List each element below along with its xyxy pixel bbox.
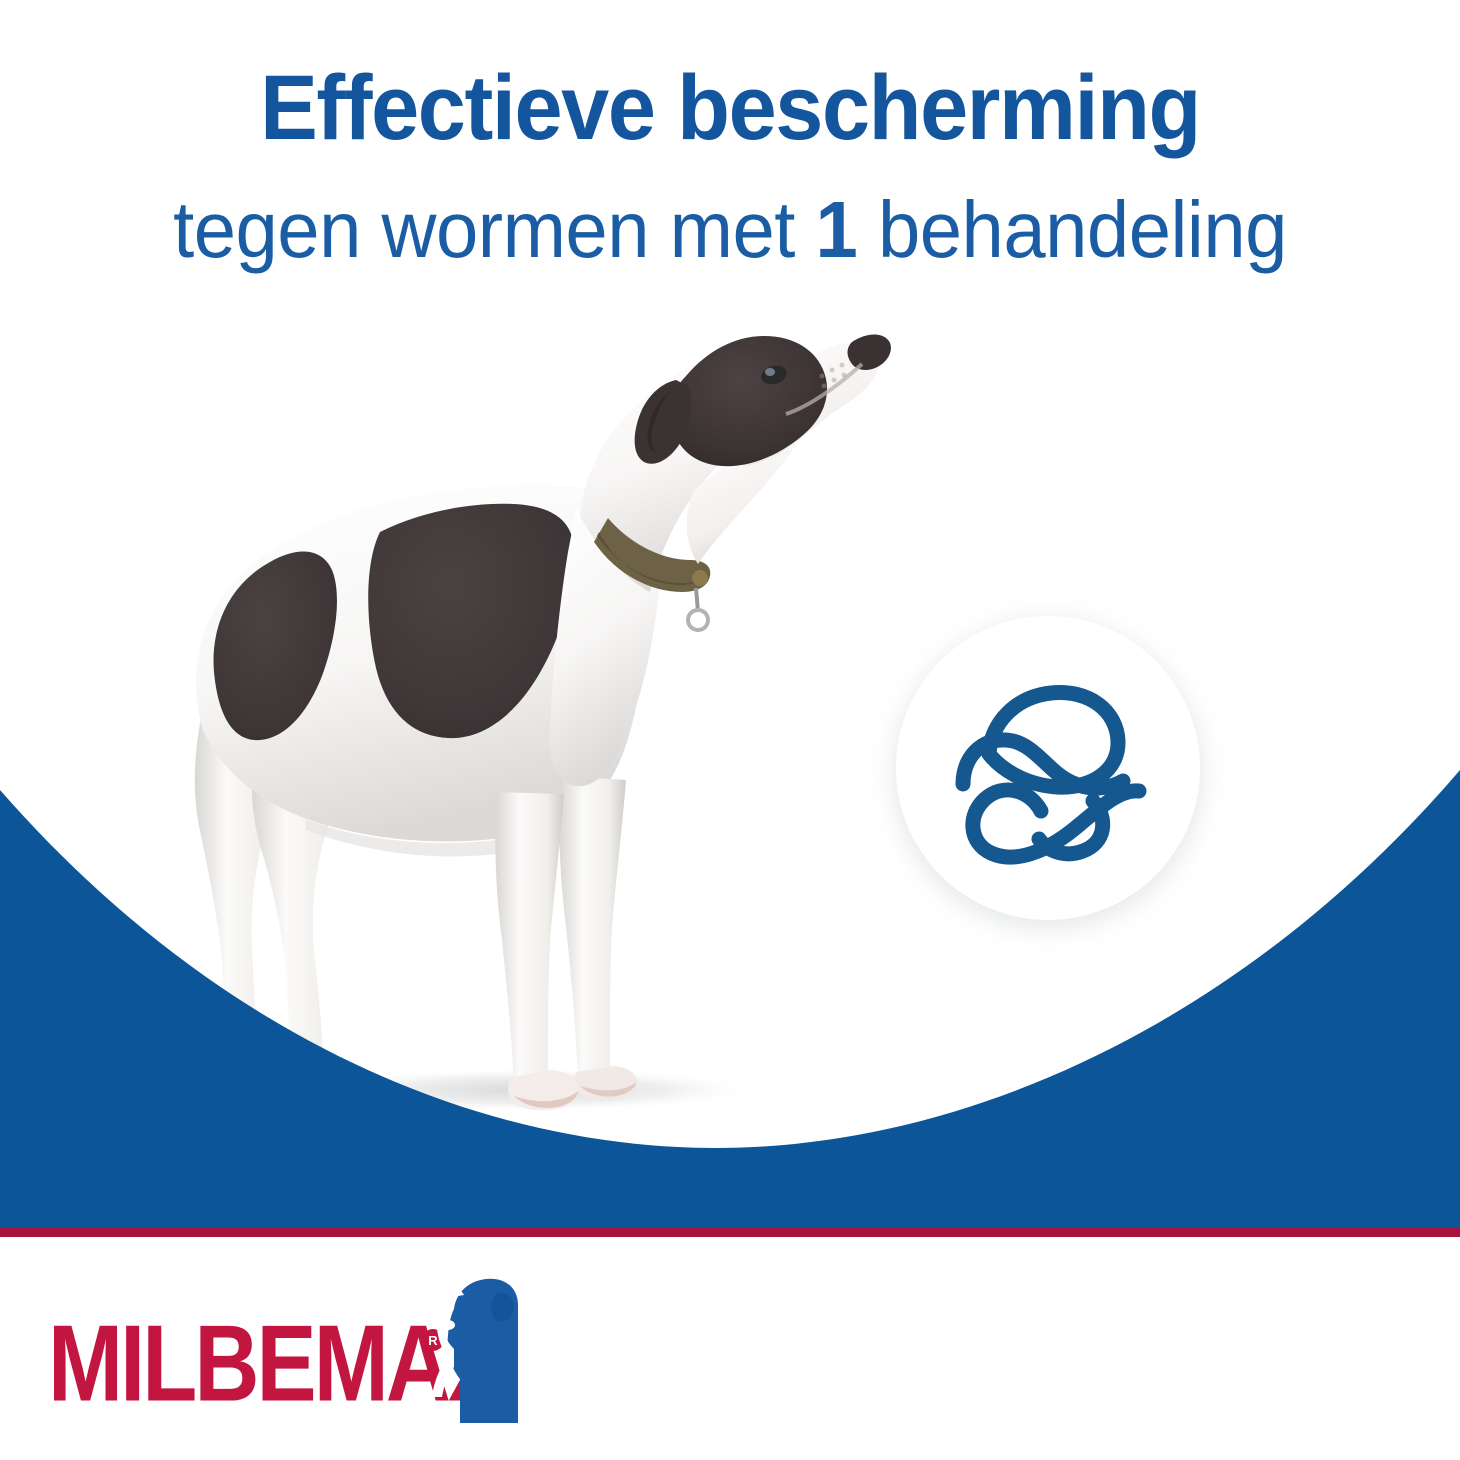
blue-band-shape bbox=[0, 770, 1460, 1230]
blue-curved-band bbox=[0, 770, 1460, 1230]
dog-head-dark bbox=[671, 336, 827, 466]
dog-collar-tag bbox=[688, 610, 708, 630]
dog-nose bbox=[848, 335, 891, 370]
headline-line-2-prefix: tegen wormen met bbox=[173, 185, 815, 274]
worms-badge bbox=[896, 616, 1200, 920]
dog-eye-highlight bbox=[765, 368, 775, 376]
headline-line-2-suffix: behandeling bbox=[857, 185, 1287, 274]
headline-line-1: Effectieve bescherming bbox=[44, 62, 1416, 154]
dog-collar-buckle bbox=[692, 570, 708, 586]
footer-bar: MILBEMAX R bbox=[0, 1237, 1460, 1460]
advertisement-canvas: Effectieve bescherming tegen wormen met … bbox=[0, 0, 1460, 1460]
red-divider bbox=[0, 1228, 1460, 1237]
headline-line-2: tegen wormen met 1 behandeling bbox=[37, 190, 1424, 270]
worms-icon bbox=[933, 653, 1163, 883]
headline-emphasis-number: 1 bbox=[816, 185, 858, 274]
headline-block: Effectieve bescherming tegen wormen met … bbox=[0, 62, 1460, 270]
svg-text:R: R bbox=[428, 1333, 438, 1348]
milbemax-logo[interactable]: MILBEMAX R bbox=[48, 1273, 518, 1423]
